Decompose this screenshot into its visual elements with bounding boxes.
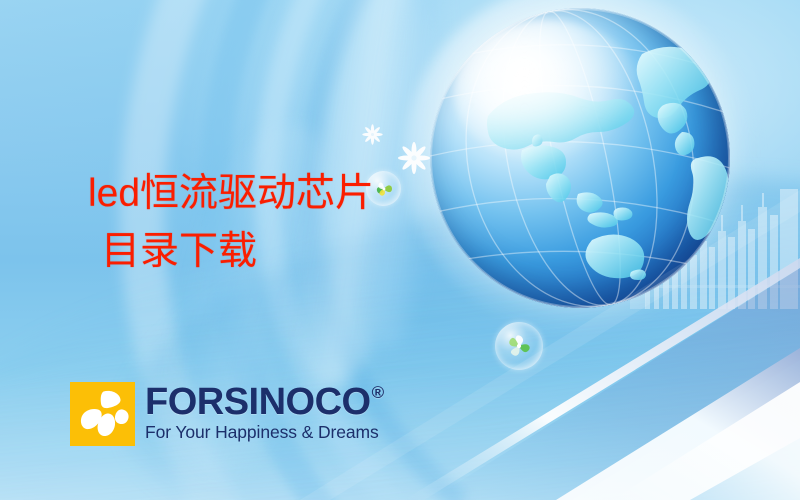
headline-line-1: led恒流驱动芯片: [88, 165, 374, 223]
globe-sphere: [430, 8, 730, 308]
pinwheel-icon: [373, 178, 394, 199]
pinwheel-flower-glyph: [70, 382, 135, 446]
globe: [430, 8, 730, 308]
logo-text-block: FORSINOCO ® For Your Happiness & Dreams: [145, 383, 384, 442]
daisy-flower-small-icon: [361, 123, 384, 146]
banner-canvas: led恒流驱动芯片 目录下载 FORSINOCO ® For Your Happ…: [0, 0, 800, 500]
logo-tagline: For Your Happiness & Dreams: [145, 422, 384, 442]
bubble-lower: [495, 322, 543, 370]
globe-rim: [430, 8, 730, 308]
logo-wordmark-text: FORSINOCO: [145, 383, 371, 421]
headline: led恒流驱动芯片 目录下载: [88, 165, 374, 281]
forsinoco-pinwheel-flower-icon: [70, 382, 135, 446]
registered-trademark-symbol: ®: [372, 384, 384, 401]
daisy-flower-large-icon: [396, 140, 432, 176]
brand-logo: FORSINOCO ® For Your Happiness & Dreams: [70, 382, 384, 446]
logo-wordmark: FORSINOCO ®: [145, 383, 384, 421]
headline-line-2: 目录下载: [88, 223, 374, 281]
pinwheel-icon: [505, 332, 533, 360]
